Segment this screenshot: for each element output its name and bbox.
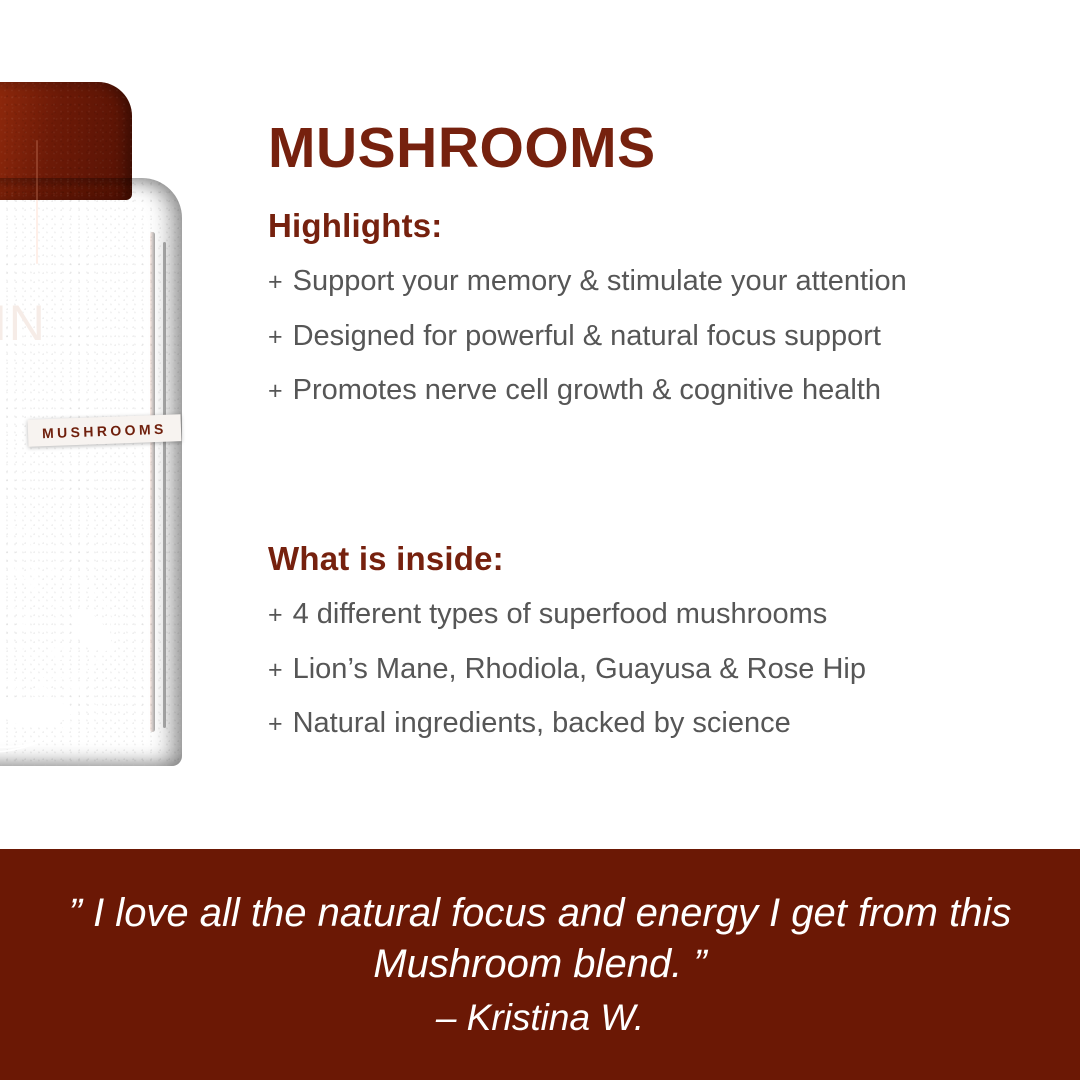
product-image-area: BRAIN PTOGENS MUSHROOMS — [0, 0, 220, 849]
list-item-label: 4 different types of superfood mushrooms — [293, 599, 828, 629]
testimonial-quote: ” I love all the natural focus and energ… — [30, 888, 1050, 990]
pouch-right-seam — [150, 232, 155, 732]
ingredients-list: + 4 different types of superfood mushroo… — [268, 599, 1058, 738]
product-brand-name: BRAIN — [0, 298, 46, 348]
testimonial-band: ” I love all the natural focus and energ… — [0, 849, 1080, 1080]
product-pouch: BRAIN PTOGENS MUSHROOMS — [0, 82, 182, 766]
highlights-list: + Support your memory & stimulate your a… — [268, 266, 1058, 405]
list-item-label: Support your memory & stimulate your att… — [293, 266, 907, 296]
list-item: + Lion’s Mane, Rhodiola, Guayusa & Rose … — [268, 654, 1058, 684]
list-item: + 4 different types of superfood mushroo… — [268, 599, 1058, 629]
plus-icon: + — [268, 712, 283, 737]
list-item: + Promotes nerve cell growth & cognitive… — [268, 375, 1058, 405]
pouch-right-seam-edge — [163, 242, 166, 728]
list-item: + Designed for powerful & natural focus … — [268, 321, 1058, 351]
section-highlights: Highlights: + Support your memory & stim… — [268, 208, 1058, 430]
promo-page: BRAIN PTOGENS MUSHROOMS — [0, 0, 1080, 1080]
product-flavour-tag: MUSHROOMS — [28, 414, 182, 447]
list-item-label: Lion’s Mane, Rhodiola, Guayusa & Rose Hi… — [293, 654, 866, 684]
testimonial-attribution: – Kristina W. — [436, 995, 644, 1041]
plus-icon: + — [268, 658, 283, 683]
section-what-is-inside: What is inside: + 4 different types of s… — [268, 541, 1058, 763]
list-item: + Support your memory & stimulate your a… — [268, 266, 1058, 296]
list-item: + Natural ingredients, backed by science — [268, 708, 1058, 738]
section-heading-highlights: Highlights: — [268, 208, 1058, 244]
plus-icon: + — [268, 270, 283, 295]
plus-icon: + — [268, 603, 283, 628]
section-heading-what-is-inside: What is inside: — [268, 541, 1058, 577]
page-title: MUSHROOMS — [268, 120, 656, 177]
list-item-label: Promotes nerve cell growth & cognitive h… — [293, 375, 881, 405]
content-column: MUSHROOMS Highlights: + Support your mem… — [268, 0, 1058, 849]
plus-icon: + — [268, 325, 283, 350]
pouch-crease — [36, 140, 38, 264]
list-item-label: Natural ingredients, backed by science — [293, 708, 791, 738]
list-item-label: Designed for powerful & natural focus su… — [293, 321, 881, 351]
plus-icon: + — [268, 379, 283, 404]
